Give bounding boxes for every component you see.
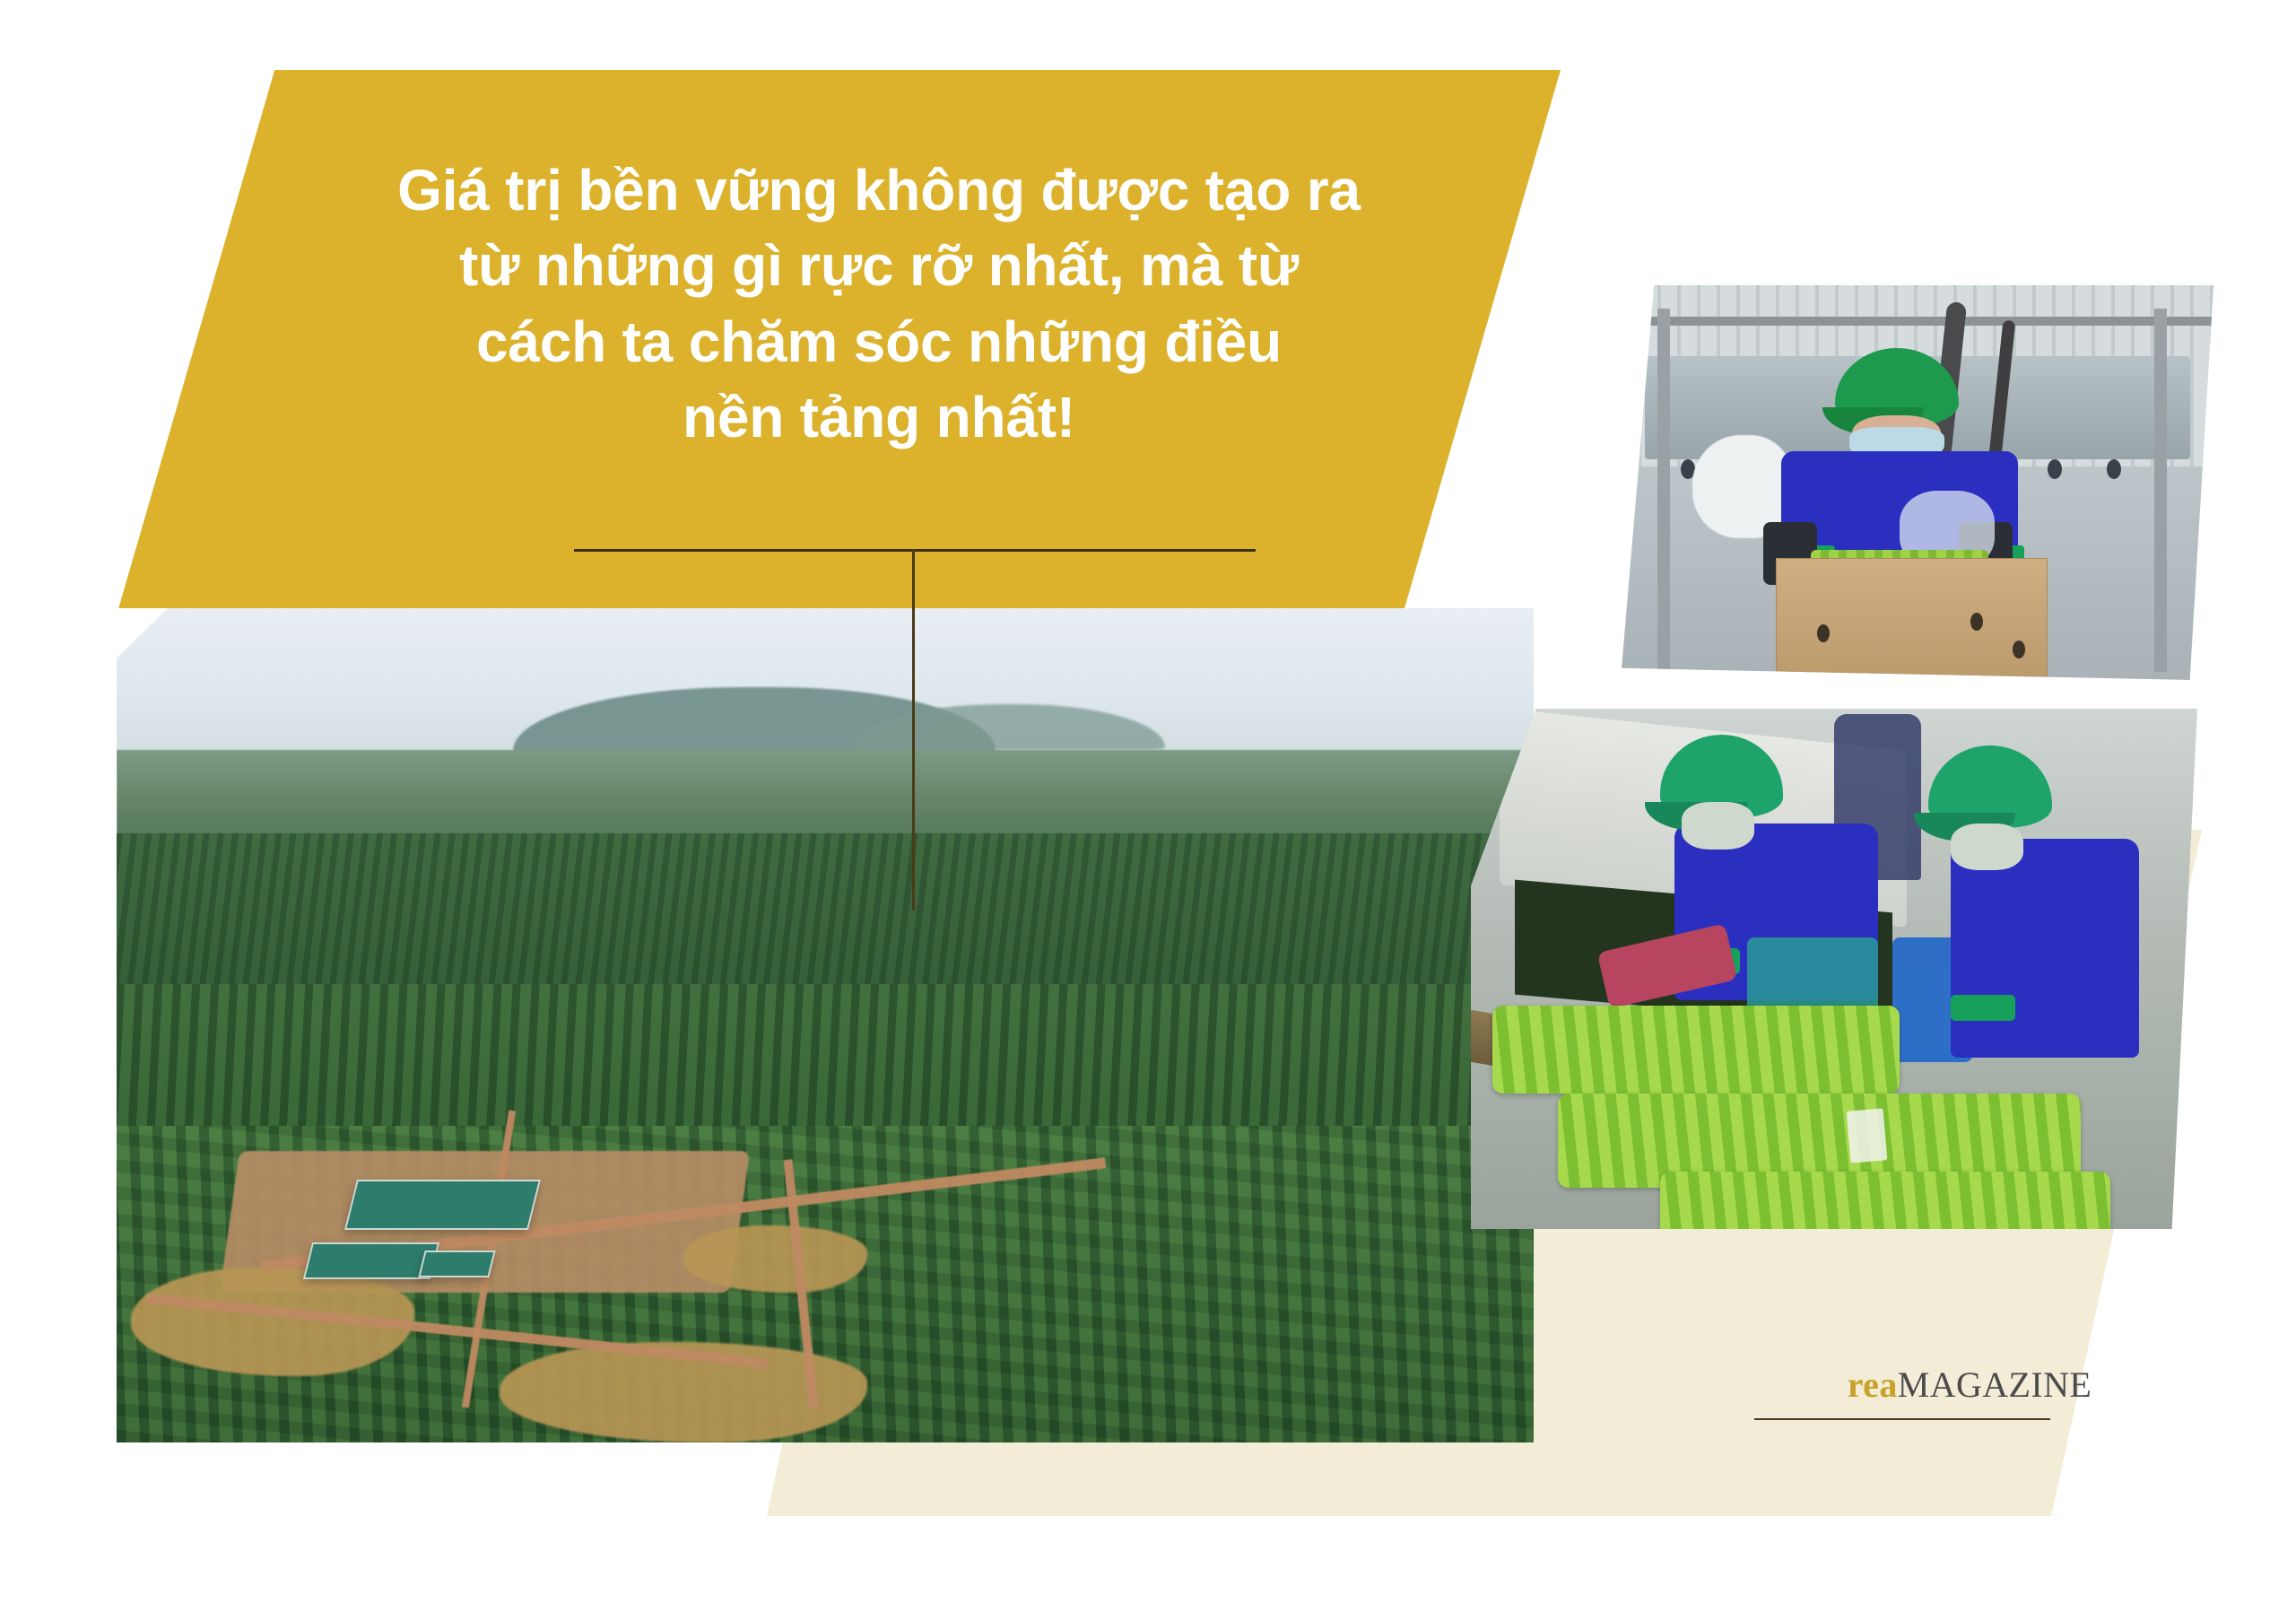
packing-worker-photo [1622, 285, 2213, 680]
worker-two-face-mask [1951, 824, 2023, 870]
aerial-plantation-photo [117, 608, 1534, 1442]
machine-port-5 [2107, 459, 2121, 479]
pond-three [683, 1225, 867, 1292]
warehouse-main [344, 1180, 541, 1230]
quote-line-4: nền tảng nhất! [269, 379, 1489, 455]
vertical-divider [912, 549, 915, 911]
aerial-artwork [117, 608, 1534, 1442]
worker-one-face-mask [1682, 802, 1754, 849]
overhead-beam [1622, 317, 2213, 326]
worker-two-sleeve-trim [1951, 995, 2016, 1021]
machine-port-4 [2048, 459, 2062, 479]
horizontal-divider [574, 549, 1256, 552]
banana-cluster-row-3 [1660, 1172, 2110, 1229]
brand-wordmark: reaMAGAZINE [1754, 1364, 2185, 1406]
pull-quote: Giá trị bền vững không được tạo ra từ nh… [269, 153, 1489, 456]
support-post-left [1657, 309, 1670, 672]
carton-vent-1 [1817, 624, 1830, 642]
warehouse-small [418, 1251, 495, 1277]
quote-line-1: Giá trị bền vững không được tạo ra [269, 153, 1489, 228]
carton-vent-3 [2013, 641, 2025, 658]
quote-line-3: cách ta chăm sóc những điều [269, 304, 1489, 379]
banana-separator-paper-2 [1847, 1108, 1887, 1163]
banana-sorting-photo [1471, 709, 2197, 1229]
worker-two-shirt [1951, 839, 2140, 1058]
brand-underline [1754, 1418, 2050, 1420]
brand-mark: reaMAGAZINE [1754, 1364, 2185, 1420]
support-post-right [2154, 309, 2167, 672]
brand-prefix: rea [1848, 1364, 1898, 1405]
brand-suffix: MAGAZINE [1898, 1364, 2092, 1405]
magazine-spread: Giá trị bền vững không được tạo ra từ nh… [0, 0, 2296, 1621]
export-carton [1776, 558, 2048, 680]
quote-line-2: từ những gì rực rỡ nhất, mà từ [269, 228, 1489, 303]
banana-cluster-row-1 [1492, 1006, 1900, 1094]
